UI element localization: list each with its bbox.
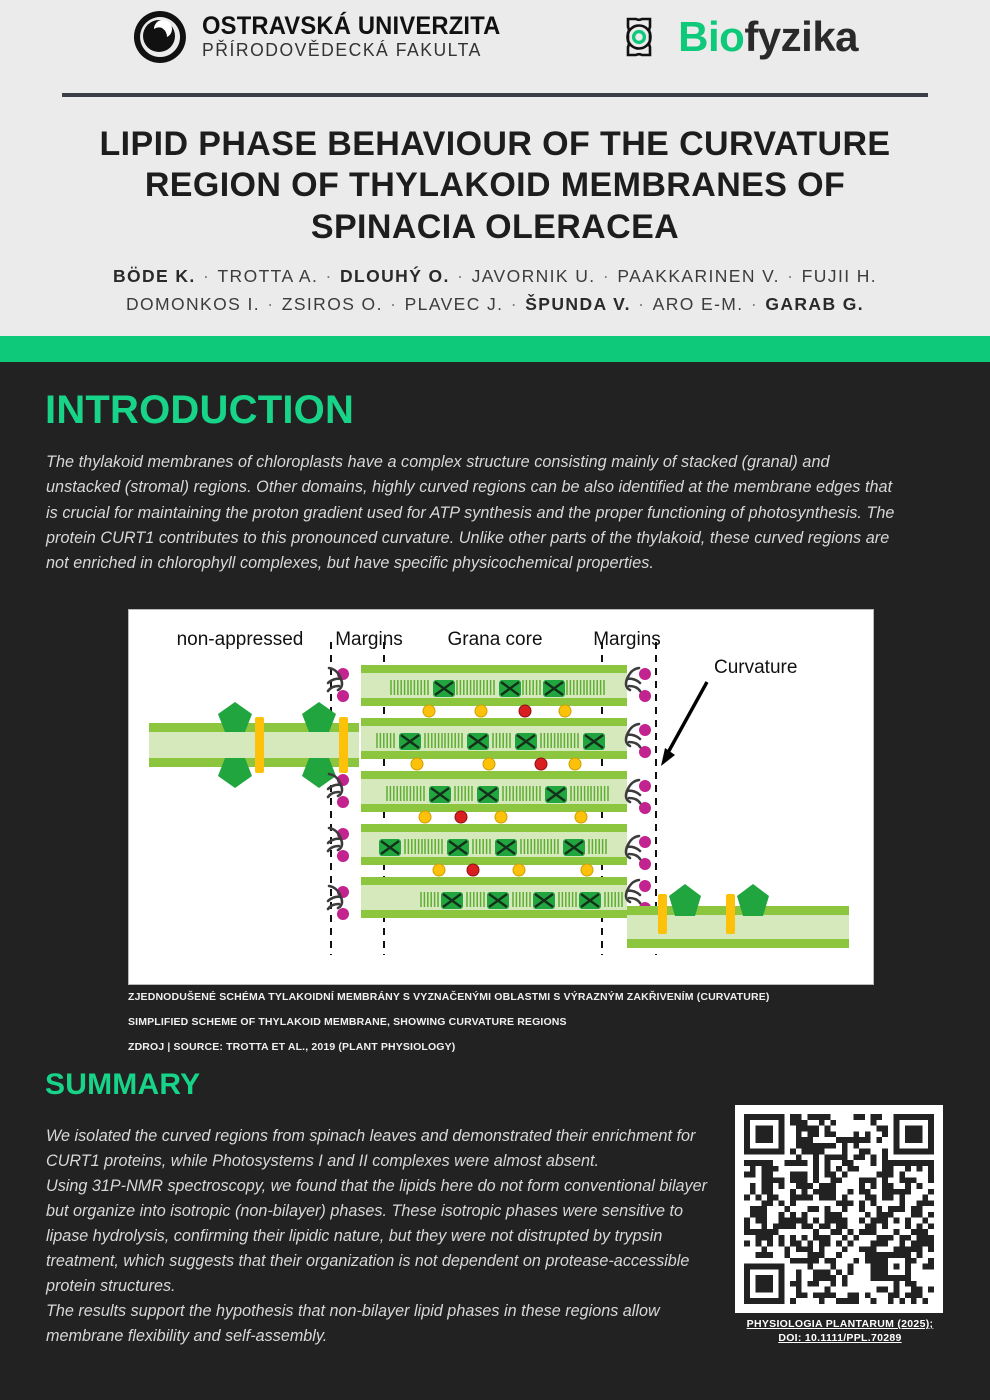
author-name: ARO E-M. — [653, 294, 744, 314]
author-name: FUJII H. — [802, 266, 877, 286]
author-name: PLAVEC J. — [405, 294, 504, 314]
author-separator: · — [318, 266, 340, 286]
introduction-heading: INTRODUCTION — [45, 388, 354, 433]
ou-emblem-icon — [132, 9, 188, 65]
page-title-line: SPINACIA OLERACEA — [20, 207, 970, 248]
poster-header: OSTRAVSKÁ UNIVERZITA PŘÍRODOVĚDECKÁ FAKU… — [0, 0, 990, 336]
author-separator: · — [260, 294, 282, 314]
ou-name-line1: OSTRAVSKÁ UNIVERZITA — [202, 14, 500, 40]
logo-row: OSTRAVSKÁ UNIVERZITA PŘÍRODOVĚDECKÁ FAKU… — [0, 6, 990, 68]
figure-caption-english: SIMPLIFIED SCHEME OF THYLAKOID MEMBRANE,… — [128, 1016, 888, 1028]
doi-line-2: DOI: 10.1111/PPL.70289 — [720, 1332, 960, 1346]
summary-paragraph: We isolated the curved regions from spin… — [46, 1124, 711, 1174]
author-name: JAVORNIK U. — [472, 266, 596, 286]
accent-bar — [0, 336, 990, 362]
svg-text:Curvature: Curvature — [714, 657, 797, 678]
introduction-text: The thylakoid membranes of chloroplasts … — [46, 450, 906, 576]
stromal-lamella-right — [627, 884, 849, 948]
author-name: TROTTA A. — [217, 266, 318, 286]
grana-stack — [361, 665, 627, 918]
author-name: ZSIROS O. — [282, 294, 383, 314]
author-separator: · — [596, 266, 618, 286]
summary-paragraph: The results support the hypothesis that … — [46, 1299, 711, 1349]
summary-text: We isolated the curved regions from spin… — [46, 1124, 711, 1348]
biofyzika-flower-icon — [616, 14, 662, 60]
page-title-line: REGION OF THYLAKOID MEMBRANES OF — [20, 165, 970, 206]
summary-paragraph: Using 31P-NMR spectroscopy, we found tha… — [46, 1174, 711, 1299]
page-title-line: LIPID PHASE BEHAVIOUR OF THE CURVATURE — [20, 124, 970, 165]
curvature-right — [626, 668, 651, 914]
author-separator: · — [450, 266, 472, 286]
ou-name-line2: PŘÍRODOVĚDECKÁ FAKULTA — [202, 39, 500, 60]
biofyzika-wordmark: Biofyzika — [678, 13, 858, 61]
doi-reference[interactable]: PHYSIOLOGIA PLANTARUM (2025); DOI: 10.11… — [720, 1318, 960, 1346]
poster-root: OSTRAVSKÁ UNIVERZITA PŘÍRODOVĚDECKÁ FAKU… — [0, 0, 990, 1400]
figure-caption-source: ZDROJ | SOURCE: TROTTA ET AL., 2019 (PLA… — [128, 1041, 888, 1053]
biofyzika-word-dark: fyzika — [744, 13, 858, 60]
author-name: ŠPUNDA V. — [525, 294, 631, 314]
svg-text:Margins: Margins — [335, 629, 403, 650]
ostravska-univerzita-logo: OSTRAVSKÁ UNIVERZITA PŘÍRODOVĚDECKÁ FAKU… — [132, 9, 516, 65]
doi-line-1: PHYSIOLOGIA PLANTARUM (2025); — [720, 1318, 960, 1332]
summary-heading: SUMMARY — [45, 1068, 200, 1102]
author-separator: · — [196, 266, 218, 286]
author-name: PAAKKARINEN V. — [617, 266, 780, 286]
author-name: GARAB G. — [765, 294, 864, 314]
svg-text:non-appressed: non-appressed — [177, 629, 304, 650]
author-separator: · — [631, 294, 653, 314]
author-name: DLOUHÝ O. — [340, 266, 450, 286]
author-name: DOMONKOS I. — [126, 294, 260, 314]
biofyzika-logo: Biofyzika — [616, 13, 858, 61]
author-separator: · — [744, 294, 766, 314]
stromal-lamella-left — [149, 702, 359, 788]
author-separator: · — [780, 266, 802, 286]
thylakoid-membrane-figure: non-appressed Margins Grana core Margins… — [128, 609, 874, 985]
ou-wordmark: OSTRAVSKÁ UNIVERZITA PŘÍRODOVĚDECKÁ FAKU… — [202, 14, 516, 61]
curvature-arrow — [661, 682, 707, 766]
author-line-1: BÖDE K. · TROTTA A. · DLOUHÝ O. · JAVORN… — [18, 262, 972, 290]
biofyzika-word-accent: Bio — [678, 13, 744, 60]
author-separator: · — [383, 294, 405, 314]
page-title: LIPID PHASE BEHAVIOUR OF THE CURVATURERE… — [20, 124, 970, 248]
svg-text:Margins: Margins — [593, 629, 661, 650]
author-line-2: DOMONKOS I. · ZSIROS O. · PLAVEC J. · ŠP… — [18, 290, 972, 318]
author-separator: · — [503, 294, 525, 314]
qr-code[interactable] — [735, 1105, 943, 1313]
header-divider — [62, 93, 928, 97]
author-name: BÖDE K. — [113, 266, 196, 286]
svg-text:Grana core: Grana core — [447, 629, 542, 650]
author-list: BÖDE K. · TROTTA A. · DLOUHÝ O. · JAVORN… — [18, 262, 972, 319]
figure-caption-czech: ZJEDNODUŠENÉ SCHÉMA TYLAKOIDNÍ MEMBRÁNY … — [128, 991, 888, 1003]
